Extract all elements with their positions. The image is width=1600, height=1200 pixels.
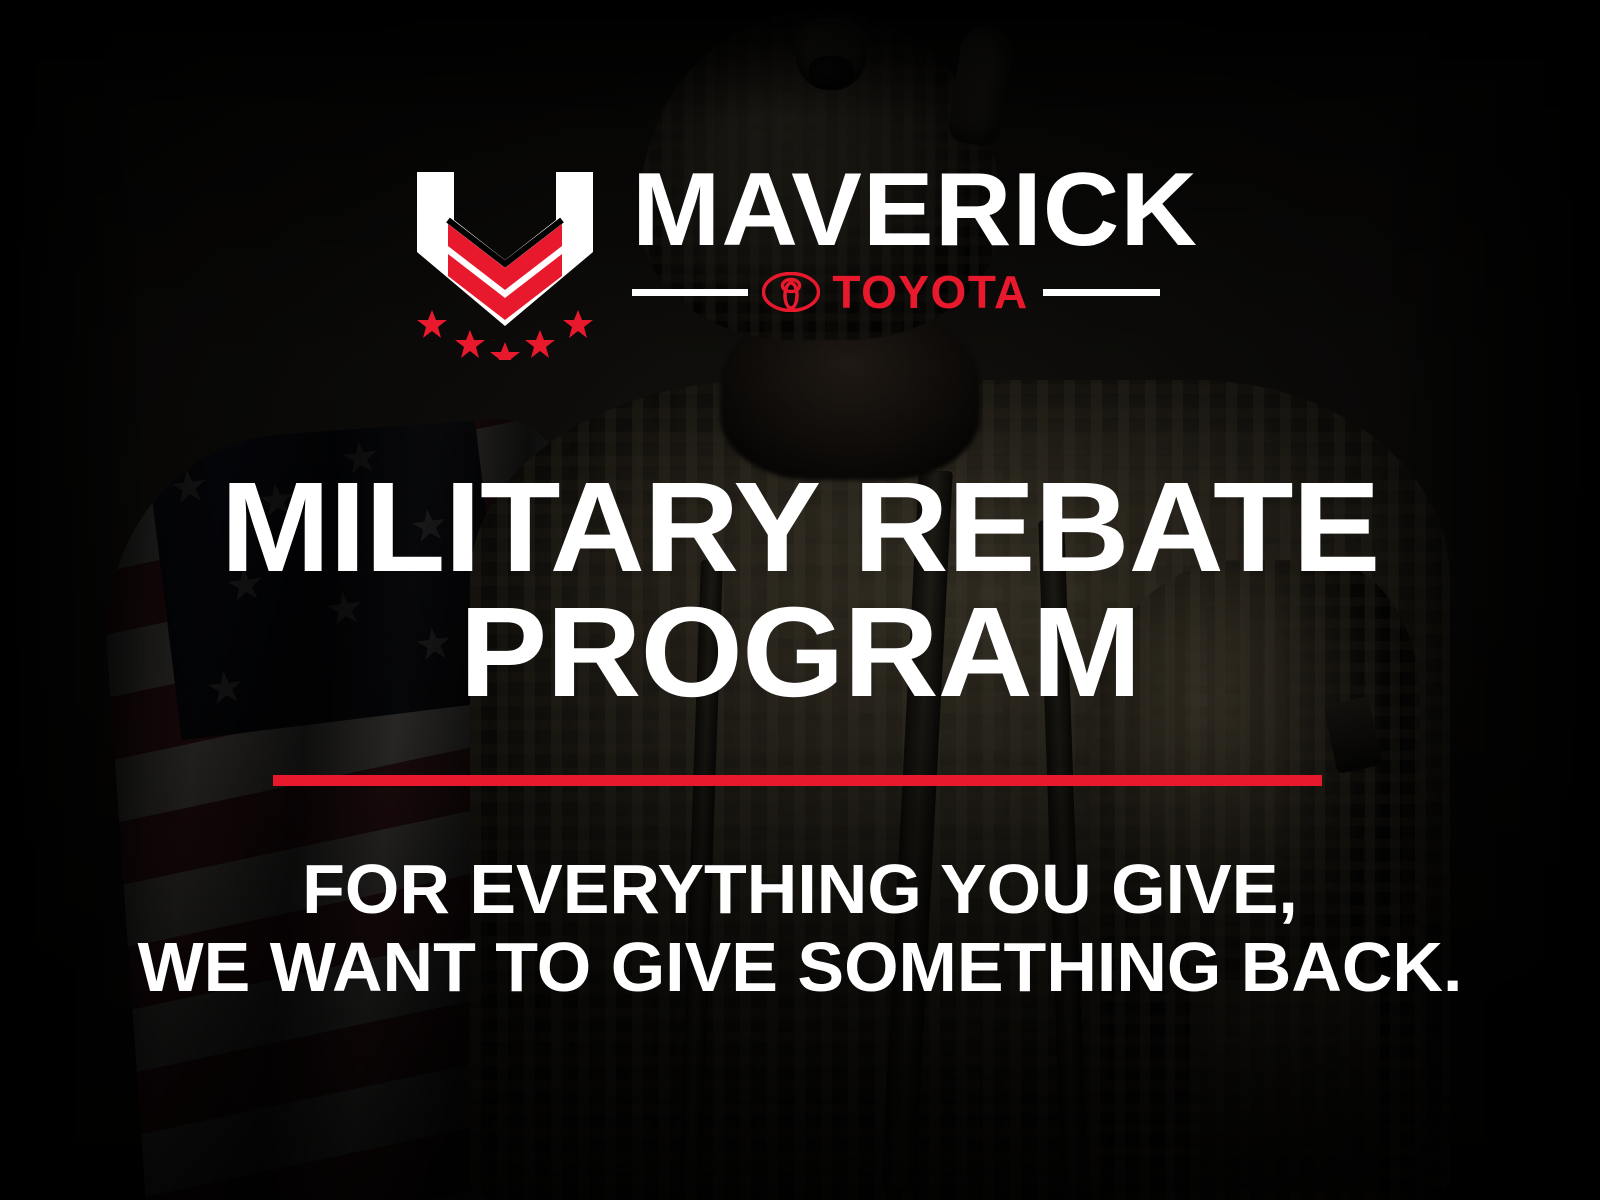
brand-name: MAVERICK (632, 166, 1198, 255)
tagline-line-1: FOR EVERYTHING YOU GIVE, (0, 850, 1600, 928)
lockup-rule-right (1043, 289, 1160, 296)
military-rebate-hero-banner: ★ ★ ★ ★ ★ ★ ★ ★ (0, 0, 1600, 1200)
partner-lockup: TOYOTA (632, 269, 1160, 315)
headline-line-2: PROGRAM (0, 590, 1600, 715)
red-divider-rule (273, 775, 1322, 786)
banner-content: MAVERICK TOYOTA (0, 0, 1600, 1200)
headline-line-1: MILITARY REBATE (0, 465, 1600, 590)
toyota-lockup: TOYOTA (762, 269, 1028, 315)
tagline: FOR EVERYTHING YOU GIVE, WE WANT TO GIVE… (0, 850, 1600, 1007)
lockup-rule-left (632, 289, 749, 296)
chevron-shield-icon (414, 160, 596, 360)
tagline-line-2: WE WANT TO GIVE SOMETHING BACK. (0, 928, 1600, 1006)
toyota-emblem-icon (762, 272, 820, 312)
page-title: MILITARY REBATE PROGRAM (0, 465, 1600, 716)
brand-lockup: MAVERICK TOYOTA (0, 160, 1600, 360)
toyota-wordmark: TOYOTA (832, 269, 1028, 315)
brand-wordmark: MAVERICK TOYOTA (632, 160, 1187, 315)
